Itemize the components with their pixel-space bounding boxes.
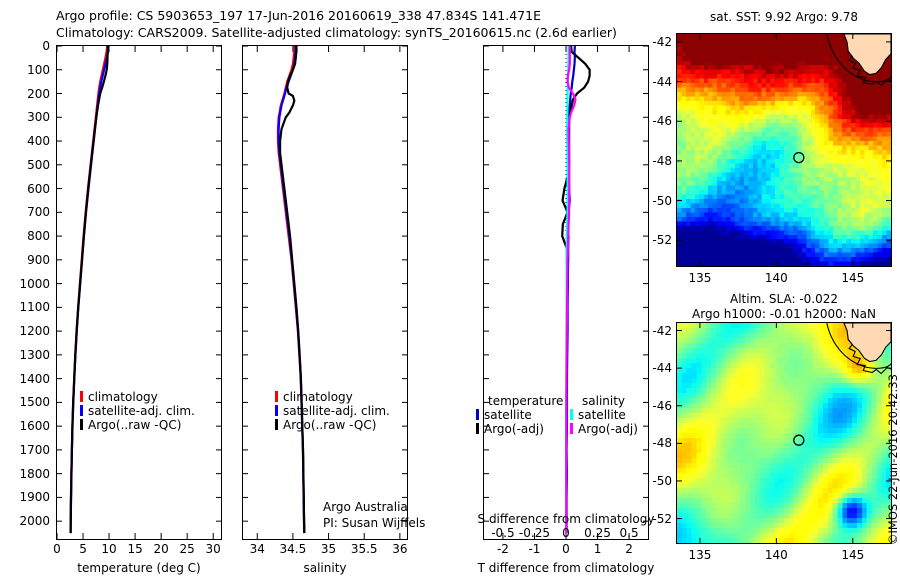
legend-title-temperature: temperature: [488, 394, 563, 408]
x-tick-15: 15: [127, 542, 142, 556]
temperature-legend: climatology satellite-adj. clim. Argo(..…: [80, 390, 195, 432]
legend-swatch-satellite-adj-clim: [275, 405, 278, 416]
legend-swatch-temp-satellite: [476, 409, 479, 420]
S-tick-0: 0: [562, 526, 570, 540]
x-tick-30: 30: [206, 542, 221, 556]
legend-item-temp-argo-adj: Argo(-adj): [476, 422, 563, 436]
legend-label-temp-satellite: satellite: [484, 408, 532, 422]
legend-item-climatology: climatology: [80, 390, 195, 404]
S-tick--0.25: -0.25: [519, 526, 550, 540]
map-y-tick--50: -50: [638, 194, 672, 208]
y-tick-800: 800: [0, 229, 50, 243]
y-tick-300: 300: [0, 110, 50, 124]
legend-swatch-argo-raw: [80, 419, 83, 430]
legend-swatch-climatology: [275, 391, 278, 402]
legend-item-satellite-adj-clim: satellite-adj. clim.: [80, 404, 195, 418]
legend-group-title-temperature: temperature: [476, 394, 563, 408]
y-tick-1100: 1100: [0, 300, 50, 314]
S-tick-0.5: 0.5: [620, 526, 639, 540]
legend-label-sal-argo-adj: Argo(-adj): [578, 422, 638, 436]
legend-swatch-sal-argo-adj: [570, 423, 573, 434]
legend-label-argo-raw: Argo(..raw -QC): [88, 418, 181, 432]
sla-map-title-line2: Argo h1000: -0.01 h2000: NaN: [692, 307, 876, 321]
y-tick-1600: 1600: [0, 419, 50, 433]
S-tick-0.25: 0.25: [584, 526, 611, 540]
legend-item-argo-raw: Argo(..raw -QC): [80, 418, 195, 432]
difference-profile-panel: [483, 45, 649, 540]
y-tick-600: 600: [0, 182, 50, 196]
map-x-tick-145: 145: [841, 548, 864, 562]
legend-item-sal-satellite: satellite: [570, 408, 638, 422]
y-tick-700: 700: [0, 205, 50, 219]
legend-item-satellite-adj-clim: satellite-adj. clim.: [275, 404, 390, 418]
T-tick--1: -1: [528, 542, 540, 556]
legend-item-climatology: climatology: [275, 390, 390, 404]
difference-xlabel-bottom: T difference from climatology: [478, 561, 655, 575]
map-y-tick--44: -44: [638, 361, 672, 375]
difference-legend-salinity: salinity satellite Argo(-adj): [570, 394, 638, 436]
map-x-tick-140: 140: [765, 548, 788, 562]
legend-label-climatology: climatology: [283, 390, 353, 404]
legend-item-sal-argo-adj: Argo(-adj): [570, 422, 638, 436]
y-tick-200: 200: [0, 87, 50, 101]
x-tick-35: 35: [321, 542, 336, 556]
legend-label-satellite-adj-clim: satellite-adj. clim.: [88, 404, 195, 418]
annotation-pi: PI: Susan Wijffels: [323, 516, 425, 530]
y-tick-2000: 2000: [0, 514, 50, 528]
map-y-tick--52: -52: [638, 233, 672, 247]
legend-swatch-satellite-adj-clim: [80, 405, 83, 416]
map-x-tick-140: 140: [765, 271, 788, 285]
legend-label-satellite-adj-clim: satellite-adj. clim.: [283, 404, 390, 418]
x-tick-25: 25: [180, 542, 195, 556]
y-tick-100: 100: [0, 63, 50, 77]
sla-map-canvas: [677, 323, 891, 543]
map-y-tick--46: -46: [638, 114, 672, 128]
map-x-tick-135: 135: [688, 548, 711, 562]
x-tick-5: 5: [79, 542, 87, 556]
T-tick-2: 2: [625, 542, 633, 556]
legend-label-argo-raw: Argo(..raw -QC): [283, 418, 376, 432]
salinity-profile-panel: [242, 45, 408, 540]
temperature-xlabel: temperature (deg C): [77, 561, 200, 575]
legend-item-argo-raw: Argo(..raw -QC): [275, 418, 390, 432]
temperature-profile-panel: [56, 45, 222, 540]
x-tick-34: 34: [250, 542, 265, 556]
difference-xlabel-top: S difference from climatology: [478, 512, 655, 526]
T-tick--2: -2: [497, 542, 509, 556]
y-tick-0: 0: [0, 39, 50, 53]
annotation-org: Argo Australia: [323, 500, 408, 514]
T-tick-0: 0: [562, 542, 570, 556]
y-tick-1900: 1900: [0, 490, 50, 504]
map-y-tick--48: -48: [638, 154, 672, 168]
x-tick-20: 20: [153, 542, 168, 556]
T-tick-1: 1: [594, 542, 602, 556]
map-x-tick-135: 135: [688, 271, 711, 285]
map-y-tick--44: -44: [638, 75, 672, 89]
sla-map-title-line1: Altim. SLA: -0.022: [730, 292, 838, 306]
map-y-tick--48: -48: [638, 436, 672, 450]
sla-map: [676, 322, 892, 544]
x-tick-36: 36: [392, 542, 407, 556]
x-tick-34.5: 34.5: [280, 542, 307, 556]
salinity-xlabel: salinity: [303, 561, 346, 575]
legend-swatch-climatology: [80, 391, 83, 402]
header-line-2: Climatology: CARS2009. Satellite-adjuste…: [56, 25, 617, 40]
imos-credit: ©IMOS 22-Jun-2016 20:42:33: [886, 374, 900, 545]
y-tick-400: 400: [0, 134, 50, 148]
y-tick-1000: 1000: [0, 277, 50, 291]
legend-label-sal-satellite: satellite: [578, 408, 626, 422]
S-tick--0.5: -0.5: [491, 526, 514, 540]
map-y-tick--50: -50: [638, 474, 672, 488]
map-x-tick-145: 145: [841, 271, 864, 285]
legend-label-temp-argo-adj: Argo(-adj): [484, 422, 544, 436]
sst-map: [676, 33, 892, 267]
y-tick-1400: 1400: [0, 372, 50, 386]
map-y-tick--52: -52: [638, 512, 672, 526]
x-tick-0: 0: [53, 542, 61, 556]
legend-item-temp-satellite: satellite: [476, 408, 563, 422]
map-y-tick--46: -46: [638, 399, 672, 413]
legend-swatch-sal-satellite: [570, 409, 573, 420]
legend-label-climatology: climatology: [88, 390, 158, 404]
y-tick-500: 500: [0, 158, 50, 172]
x-tick-35.5: 35.5: [351, 542, 378, 556]
difference-plot-area: [484, 46, 648, 539]
y-tick-1800: 1800: [0, 467, 50, 481]
legend-swatch-argo-raw: [275, 419, 278, 430]
y-tick-1300: 1300: [0, 348, 50, 362]
header-line-1: Argo profile: CS 5903653_197 17-Jun-2016…: [56, 8, 541, 23]
y-tick-1500: 1500: [0, 395, 50, 409]
map-y-tick--42: -42: [638, 35, 672, 49]
y-tick-1700: 1700: [0, 443, 50, 457]
legend-swatch-temp-argo-adj: [476, 423, 479, 434]
map-y-tick--42: -42: [638, 324, 672, 338]
salinity-legend: climatology satellite-adj. clim. Argo(..…: [275, 390, 390, 432]
y-tick-900: 900: [0, 253, 50, 267]
temperature-plot-area: [57, 46, 221, 539]
difference-legend-temperature: temperature satellite Argo(-adj): [476, 394, 563, 436]
legend-group-title-salinity: salinity: [570, 394, 638, 408]
legend-title-salinity: salinity: [582, 394, 625, 408]
x-tick-10: 10: [101, 542, 116, 556]
salinity-plot-area: [243, 46, 407, 539]
y-tick-1200: 1200: [0, 324, 50, 338]
sst-map-canvas: [677, 34, 891, 266]
sst-map-title: sat. SST: 9.92 Argo: 9.78: [710, 10, 858, 24]
